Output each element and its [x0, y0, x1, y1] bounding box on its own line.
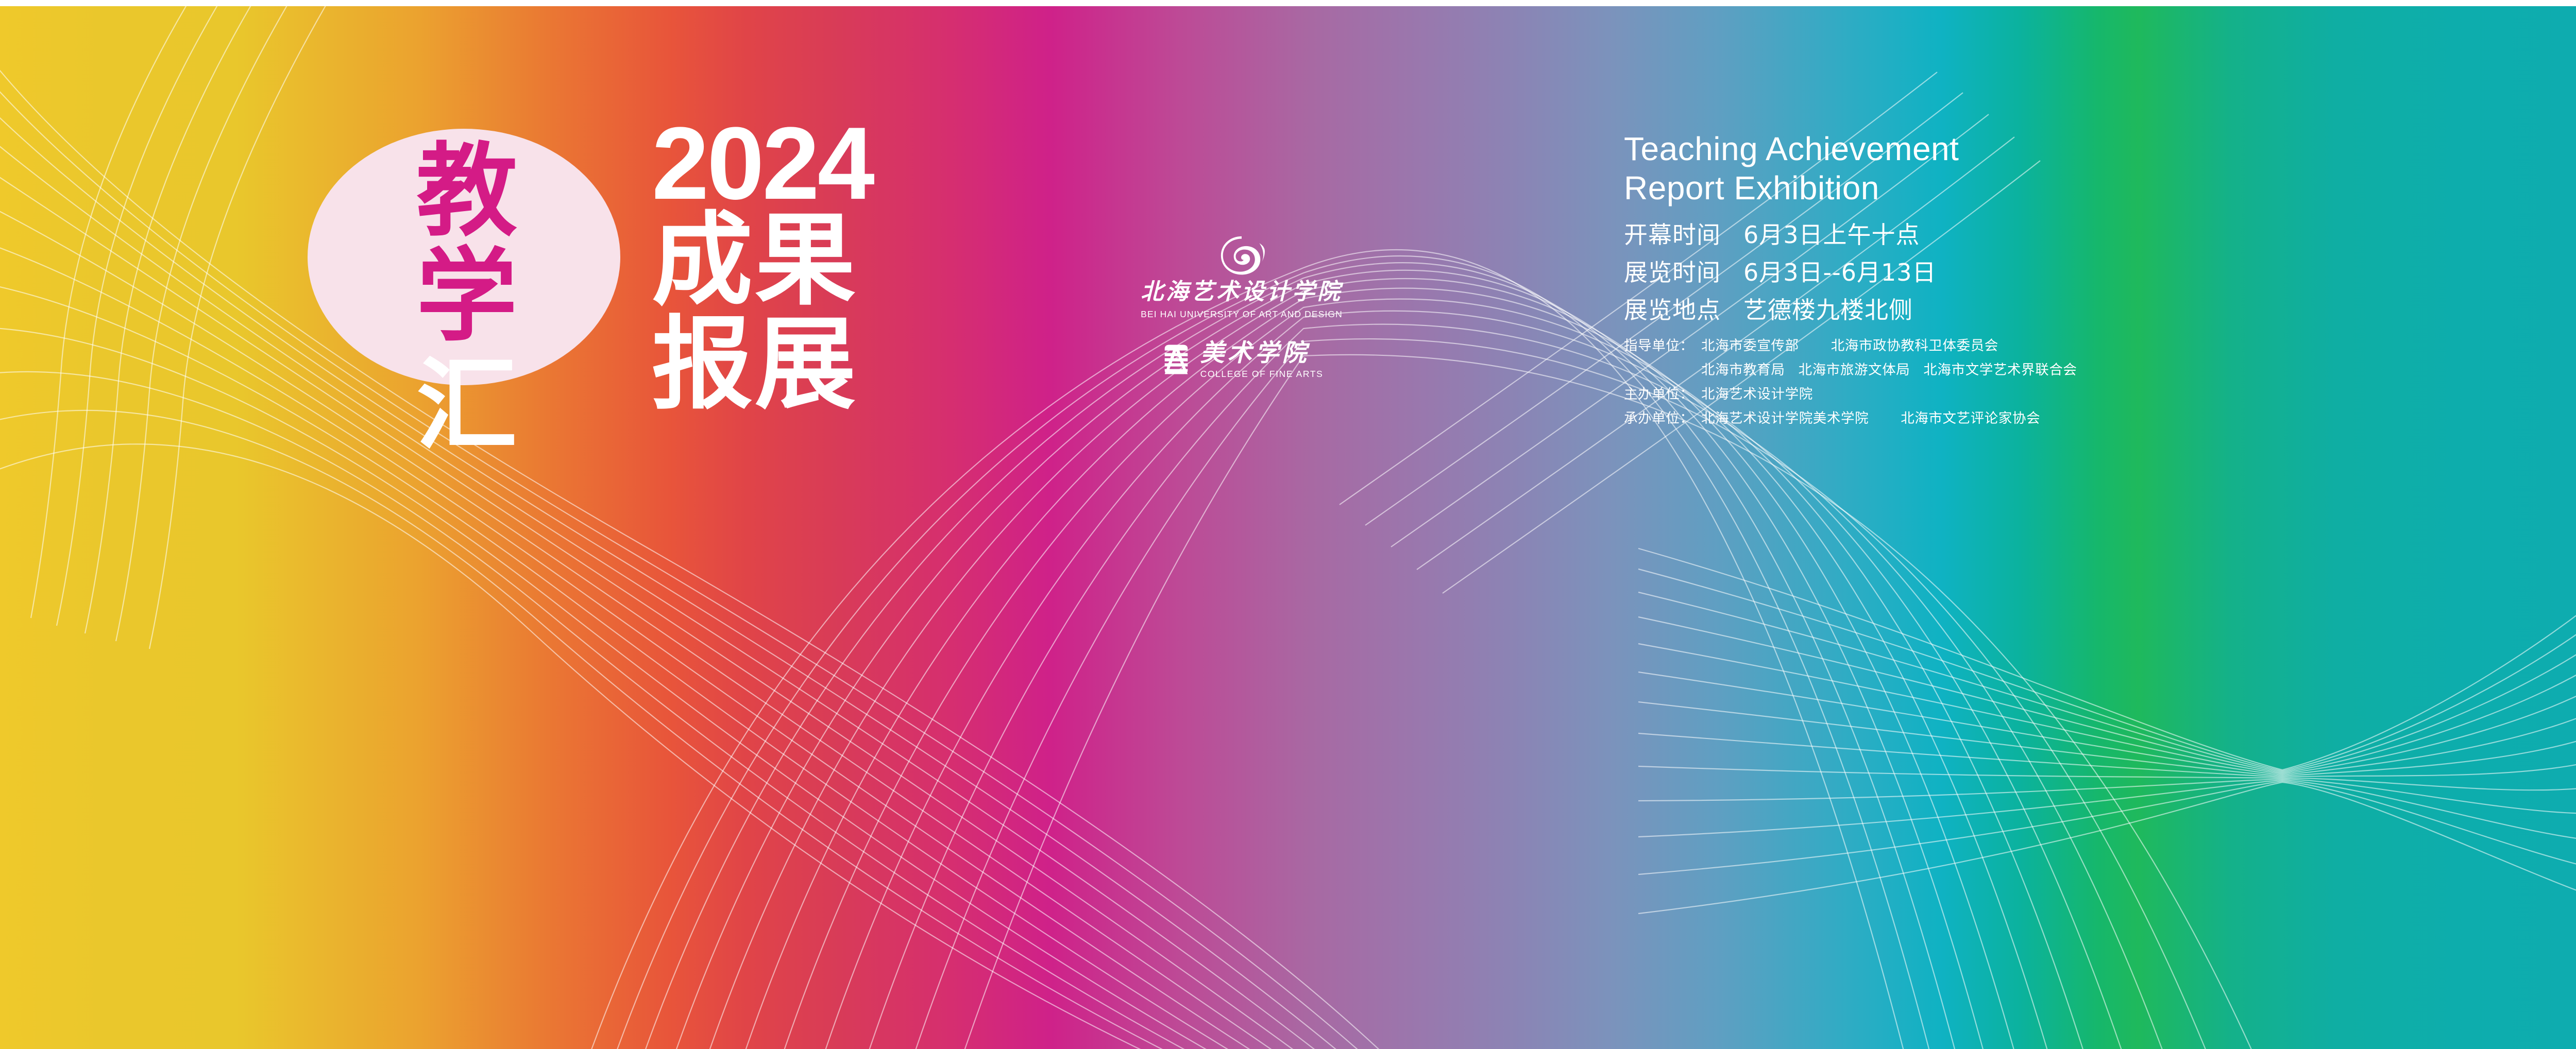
fine-arts-name-en: COLLEGE OF FINE ARTS — [1200, 370, 1324, 379]
university-name-cjk: 北海艺术设计学院 — [1123, 281, 1360, 303]
detail-value-venue: 艺德楼九楼北侧 — [1743, 298, 1913, 322]
detail-label-opening-time: 开幕时间 — [1624, 223, 1743, 247]
organizer-value-cont-1: 北海市教育局 — [1701, 362, 1785, 380]
detail-row-opening-time: 开幕时间 6月3日上午十点 — [1624, 223, 2551, 247]
poster-banner: 教 学 汇 2024 成果 报展 北海艺术设计学院 BEI HAI UNIVER… — [0, 0, 2576, 1049]
title-line-baozhan: 报展 — [652, 314, 873, 415]
detail-value-opening-time: 6月3日上午十点 — [1743, 223, 1920, 247]
info-column: Teaching Achievement Report Exhibition 开… — [1624, 130, 2551, 434]
badge-char-hui: 汇 — [374, 356, 560, 456]
organizer-label-guidance: 指导单位： — [1624, 337, 1701, 355]
organizer-value-coorganizer-2: 北海市文艺评论家协会 — [1901, 410, 2040, 428]
organizer-label-coorganizer: 承办单位： — [1624, 410, 1701, 428]
logo-cluster: 北海艺术设计学院 BEI HAI UNIVERSITY OF ART AND D… — [1123, 234, 1360, 379]
detail-row-exhibition-dates: 展览时间 6月3日--6月13日 — [1624, 261, 2551, 284]
year-label: 2024 — [652, 119, 873, 208]
badge-char-xue: 学 — [374, 247, 560, 347]
organizer-value-guidance-1: 北海市委宣传部 — [1701, 337, 1799, 355]
organizer-value-host-1: 北海艺术设计学院 — [1701, 386, 1813, 404]
organizer-block: 指导单位： 北海市委宣传部 北海市政协教科卫体委员会 北海市教育局 北海市旅游文… — [1624, 337, 2551, 428]
top-white-strip — [0, 0, 2576, 6]
detail-label-exhibition-dates: 展览时间 — [1624, 261, 1743, 284]
organizer-row-coorganizer: 承办单位： 北海艺术设计学院美术学院 北海市文艺评论家协会 — [1624, 410, 2551, 428]
swirl-spiral-icon — [1217, 234, 1266, 279]
organizer-value-cont-3: 北海市文学艺术界联合会 — [1923, 362, 2077, 380]
detail-value-exhibition-dates: 6月3日--6月13日 — [1743, 261, 1937, 284]
organizer-row-guidance-cont: 北海市教育局 北海市旅游文体局 北海市文学艺术界联合会 — [1624, 362, 2551, 380]
badge-char-jiao: 教 — [374, 142, 560, 242]
organizer-row-guidance: 指导单位： 北海市委宣传部 北海市政协教科卫体委员会 — [1624, 337, 2551, 355]
organizer-value-cont-2: 北海市旅游文体局 — [1799, 362, 1910, 380]
organizer-label-host: 主办单位： — [1624, 386, 1701, 404]
fine-arts-logo-row: 美术学院 COLLEGE OF FINE ARTS — [1123, 341, 1360, 379]
organizer-value-coorganizer-1: 北海艺术设计学院美术学院 — [1701, 410, 1869, 428]
organizer-row-host: 主办单位： 北海艺术设计学院 — [1624, 386, 2551, 404]
badge-character-lockup: 教 学 汇 — [374, 142, 560, 456]
detail-label-venue: 展览地点 — [1624, 298, 1743, 322]
university-name-en: BEI HAI UNIVERSITY OF ART AND DESIGN — [1123, 310, 1360, 319]
fine-arts-text: 美术学院 COLLEGE OF FINE ARTS — [1200, 341, 1324, 379]
event-detail-rows: 开幕时间 6月3日上午十点 展览时间 6月3日--6月13日 展览地点 艺德楼九… — [1624, 223, 2551, 322]
mei-emblem-icon — [1160, 343, 1192, 375]
main-title-block: 2024 成果 报展 — [652, 119, 873, 415]
english-title-line-1: Teaching Achievement — [1624, 130, 2551, 169]
detail-row-venue: 展览地点 艺德楼九楼北侧 — [1624, 298, 2551, 322]
english-title-line-2: Report Exhibition — [1624, 169, 2551, 208]
organizer-value-guidance-2: 北海市政协教科卫体委员会 — [1831, 337, 1998, 355]
fine-arts-name-cjk: 美术学院 — [1200, 341, 1324, 365]
title-line-chengguo: 成果 — [652, 210, 873, 311]
swirl-logo-wrap — [1123, 234, 1360, 279]
